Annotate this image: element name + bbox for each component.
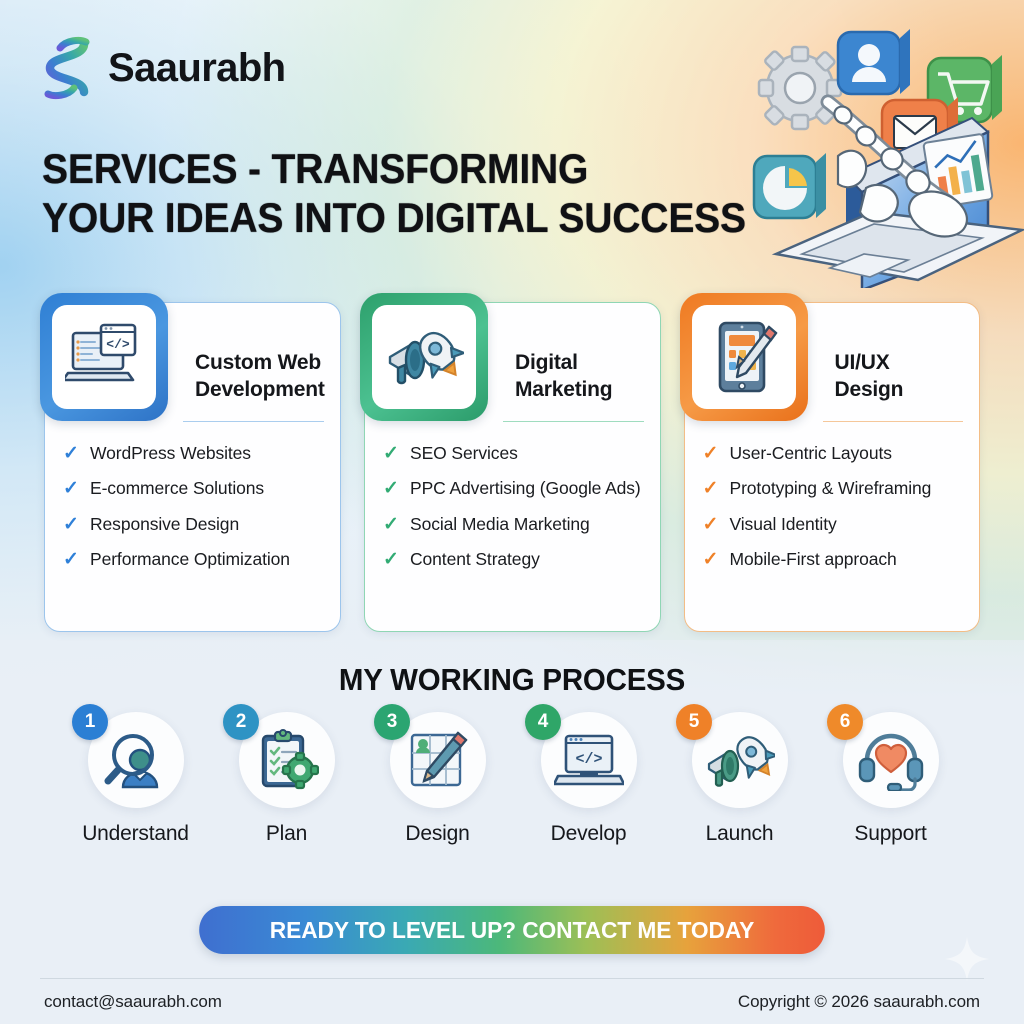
process-section-title: MY WORKING PROCESS [26,662,999,698]
step-number-badge: 4 [525,704,561,740]
brand-name: Saaurabh [108,46,286,91]
title-divider [183,421,324,422]
contact-cta-button[interactable]: READY TO LEVEL UP? CONTACT ME TODAY [199,906,825,954]
feature-item: ✓Performance Optimization [63,549,328,571]
service-feature-list: ✓WordPress Websites ✓E-commerce Solution… [63,443,328,585]
service-icon-badge [680,293,808,421]
headline-line-2: YOUR IDEAS INTO DIGITAL SUCCESS [42,193,749,242]
check-icon: ✓ [383,478,399,500]
footer-divider [40,978,984,979]
gear-icon [759,47,841,129]
footer: contact@saaurabh.com Copyright © 2026 sa… [44,992,980,1012]
user-profile-icon [838,29,910,94]
check-icon: ✓ [63,549,79,571]
title-divider [503,421,644,422]
step-label: Develop [551,822,627,846]
service-feature-list: ✓User-Centric Layouts ✓Prototyping & Wir… [703,443,968,585]
robot-hand-laptop-illustration [742,16,1024,288]
step-number-badge: 5 [676,704,712,740]
feature-item: ✓PPC Advertising (Google Ads) [383,478,648,500]
check-icon: ✓ [383,514,399,536]
service-card-ui-ux-design[interactable]: UI/UX Design ✓User-Centric Layouts ✓Prot… [684,302,981,632]
tablet-pencil-icon [708,319,780,395]
footer-copyright: Copyright © 2026 saaurabh.com [738,992,980,1012]
check-icon: ✓ [383,443,399,465]
check-icon: ✓ [383,549,399,571]
process-step-launch[interactable]: 5 Launch [664,712,815,846]
step-label: Plan [266,822,307,846]
sparkle-decoration [944,936,990,982]
wireframe-pencil-icon [406,729,470,791]
feature-item: ✓Social Media Marketing [383,514,648,536]
feature-item: ✓E-commerce Solutions [63,478,328,500]
megaphone-part [390,342,424,383]
step-label: Support [854,822,926,846]
feature-item: ✓Content Strategy [383,549,648,571]
service-icon-badge: </> [40,293,168,421]
check-icon: ✓ [63,443,79,465]
check-icon: ✓ [703,514,719,536]
laptop-code-icon: </> [554,730,624,790]
process-step-develop[interactable]: 4 </> Develop [513,712,664,846]
feature-item: ✓SEO Services [383,443,648,465]
step-label: Launch [706,822,774,846]
check-icon: ✓ [703,478,719,500]
step-number-badge: 6 [827,704,863,740]
clipboard-gear-icon [255,728,319,792]
laptop-code-icon: </> [65,321,143,393]
process-step-design[interactable]: 3 Design [362,712,513,846]
service-card-custom-web-development[interactable]: </> Custom Web Development ✓WordPress We… [44,302,341,632]
megaphone-rocket-icon [705,728,775,792]
step-label: Understand [82,822,189,846]
step-number-badge: 3 [374,704,410,740]
process-step-row: 1 Understand 2 [60,712,966,846]
service-card-title: Custom Web Development [195,319,324,404]
footer-email[interactable]: contact@saaurabh.com [44,992,222,1012]
check-icon: ✓ [703,549,719,571]
headset-heart-icon [856,729,926,791]
step-label: Design [405,822,469,846]
check-icon: ✓ [63,514,79,536]
service-feature-list: ✓SEO Services ✓PPC Advertising (Google A… [383,443,648,585]
service-card-digital-marketing[interactable]: Digital Marketing ✓SEO Services ✓PPC Adv… [364,302,661,632]
services-card-row: </> Custom Web Development ✓WordPress We… [44,302,980,632]
brand-logo[interactable]: Saaurabh [40,36,286,100]
svg-text:</>: </> [106,337,130,352]
headline-line-1: SERVICES - TRANSFORMING [42,144,749,193]
process-step-understand[interactable]: 1 Understand [60,712,211,846]
process-step-plan[interactable]: 2 [211,712,362,846]
s-monogram-icon [40,36,94,100]
feature-item: ✓WordPress Websites [63,443,328,465]
feature-item: ✓Prototyping & Wireframing [703,478,968,500]
page-headline: SERVICES - TRANSFORMING YOUR IDEAS INTO … [42,144,749,242]
feature-item: ✓Responsive Design [63,514,328,536]
magnifier-person-icon [103,729,169,791]
feature-item: ✓Mobile-First approach [703,549,968,571]
pie-chart-icon [754,153,826,218]
feature-item: ✓Visual Identity [703,514,968,536]
check-icon: ✓ [63,478,79,500]
service-card-title: Digital Marketing [515,319,644,404]
feature-item: ✓User-Centric Layouts [703,443,968,465]
title-divider [823,421,964,422]
process-step-support[interactable]: 6 Support [815,712,966,846]
service-card-title: UI/UX Design [835,319,964,404]
svg-text:</>: </> [575,751,602,768]
step-number-badge: 1 [72,704,108,740]
service-icon-badge [360,293,488,421]
step-number-badge: 2 [223,704,259,740]
megaphone-rocket-icon [384,321,464,393]
check-icon: ✓ [703,443,719,465]
